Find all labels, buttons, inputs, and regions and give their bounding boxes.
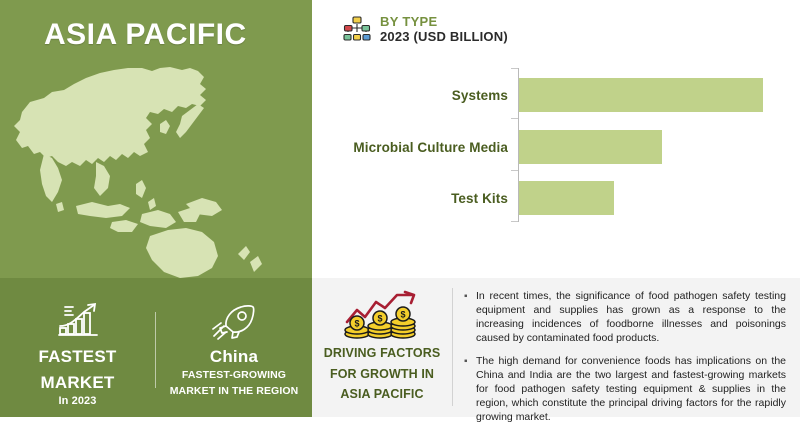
bar-systems[interactable] <box>519 78 763 112</box>
chart-subtitle: 2023 (USD BILLION) <box>380 29 508 44</box>
bar-chart: Systems Microbial Culture Media Test Kit… <box>312 60 800 225</box>
stat-subtitle: In 2023 <box>58 395 96 408</box>
chart-bar-row[interactable]: Systems <box>312 78 800 112</box>
driving-factors-title-line3: ASIA PACIFIC <box>340 387 423 402</box>
driving-factors-panel: $ $ $ DRIVING FACTORS FOR GROWTH IN ASIA… <box>312 278 800 417</box>
coins-growth-arrow-icon: $ $ $ <box>339 290 425 340</box>
chart-header: BY TYPE 2023 (USD BILLION) <box>342 14 508 44</box>
stat-fastest-growing-country: China FASTEST-GROWING MARKET IN THE REGI… <box>156 278 312 417</box>
hierarchy-org-chart-icon <box>342 14 372 44</box>
driving-factors-title-line1: DRIVING FACTORS <box>324 346 441 361</box>
bullet-text: The high demand for convenience foods ha… <box>476 354 786 424</box>
bullet-marker: ▪ <box>464 354 476 424</box>
growth-bar-chart-arrow-icon <box>56 300 100 340</box>
bar-label: Microbial Culture Media <box>312 130 508 164</box>
region-map-panel: ASIA PACIFIC <box>0 0 312 278</box>
rocket-icon <box>211 300 257 340</box>
svg-text:$: $ <box>400 310 405 320</box>
chart-panel: BY TYPE 2023 (USD BILLION) Systems Micro… <box>312 0 800 278</box>
chart-bar-row[interactable]: Test Kits <box>312 181 800 215</box>
stat-title-line1: China <box>210 347 258 366</box>
region-stats-panel: FASTEST MARKET In 2023 China FASTEST-GRO… <box>0 278 312 417</box>
stat-subtitle-line2: MARKET IN THE REGION <box>170 385 299 398</box>
stat-fastest-market: FASTEST MARKET In 2023 <box>0 278 155 417</box>
bullet-text: In recent times, the significance of foo… <box>476 289 786 345</box>
bar-microbial-culture-media[interactable] <box>519 130 662 164</box>
axis-tick <box>511 221 518 222</box>
svg-text:$: $ <box>377 314 382 324</box>
list-item: ▪ The high demand for convenience foods … <box>464 354 786 424</box>
axis-tick <box>511 118 518 119</box>
facts-divider <box>452 288 453 406</box>
chart-title: BY TYPE <box>380 14 508 29</box>
list-item: ▪ In recent times, the significance of f… <box>464 289 786 345</box>
bar-label: Test Kits <box>312 181 508 215</box>
stat-title-line1: FASTEST <box>39 347 117 366</box>
bullet-marker: ▪ <box>464 289 476 345</box>
axis-tick <box>511 170 518 171</box>
driving-factors-bullets: ▪ In recent times, the significance of f… <box>464 289 786 433</box>
driving-factors-title-line2: FOR GROWTH IN <box>330 367 434 382</box>
stat-title-line2: MARKET <box>41 373 115 392</box>
driving-factors-heading: $ $ $ DRIVING FACTORS FOR GROWTH IN ASIA… <box>312 278 452 417</box>
svg-text:$: $ <box>354 319 359 329</box>
infographic-page: ASIA PACIFIC <box>0 0 800 417</box>
bar-label: Systems <box>312 78 508 112</box>
axis-tick <box>511 68 518 69</box>
chart-bar-row[interactable]: Microbial Culture Media <box>312 130 800 164</box>
stat-subtitle-line1: FASTEST-GROWING <box>182 369 286 382</box>
bar-test-kits[interactable] <box>519 181 614 215</box>
asia-pacific-map-icon <box>0 46 312 278</box>
